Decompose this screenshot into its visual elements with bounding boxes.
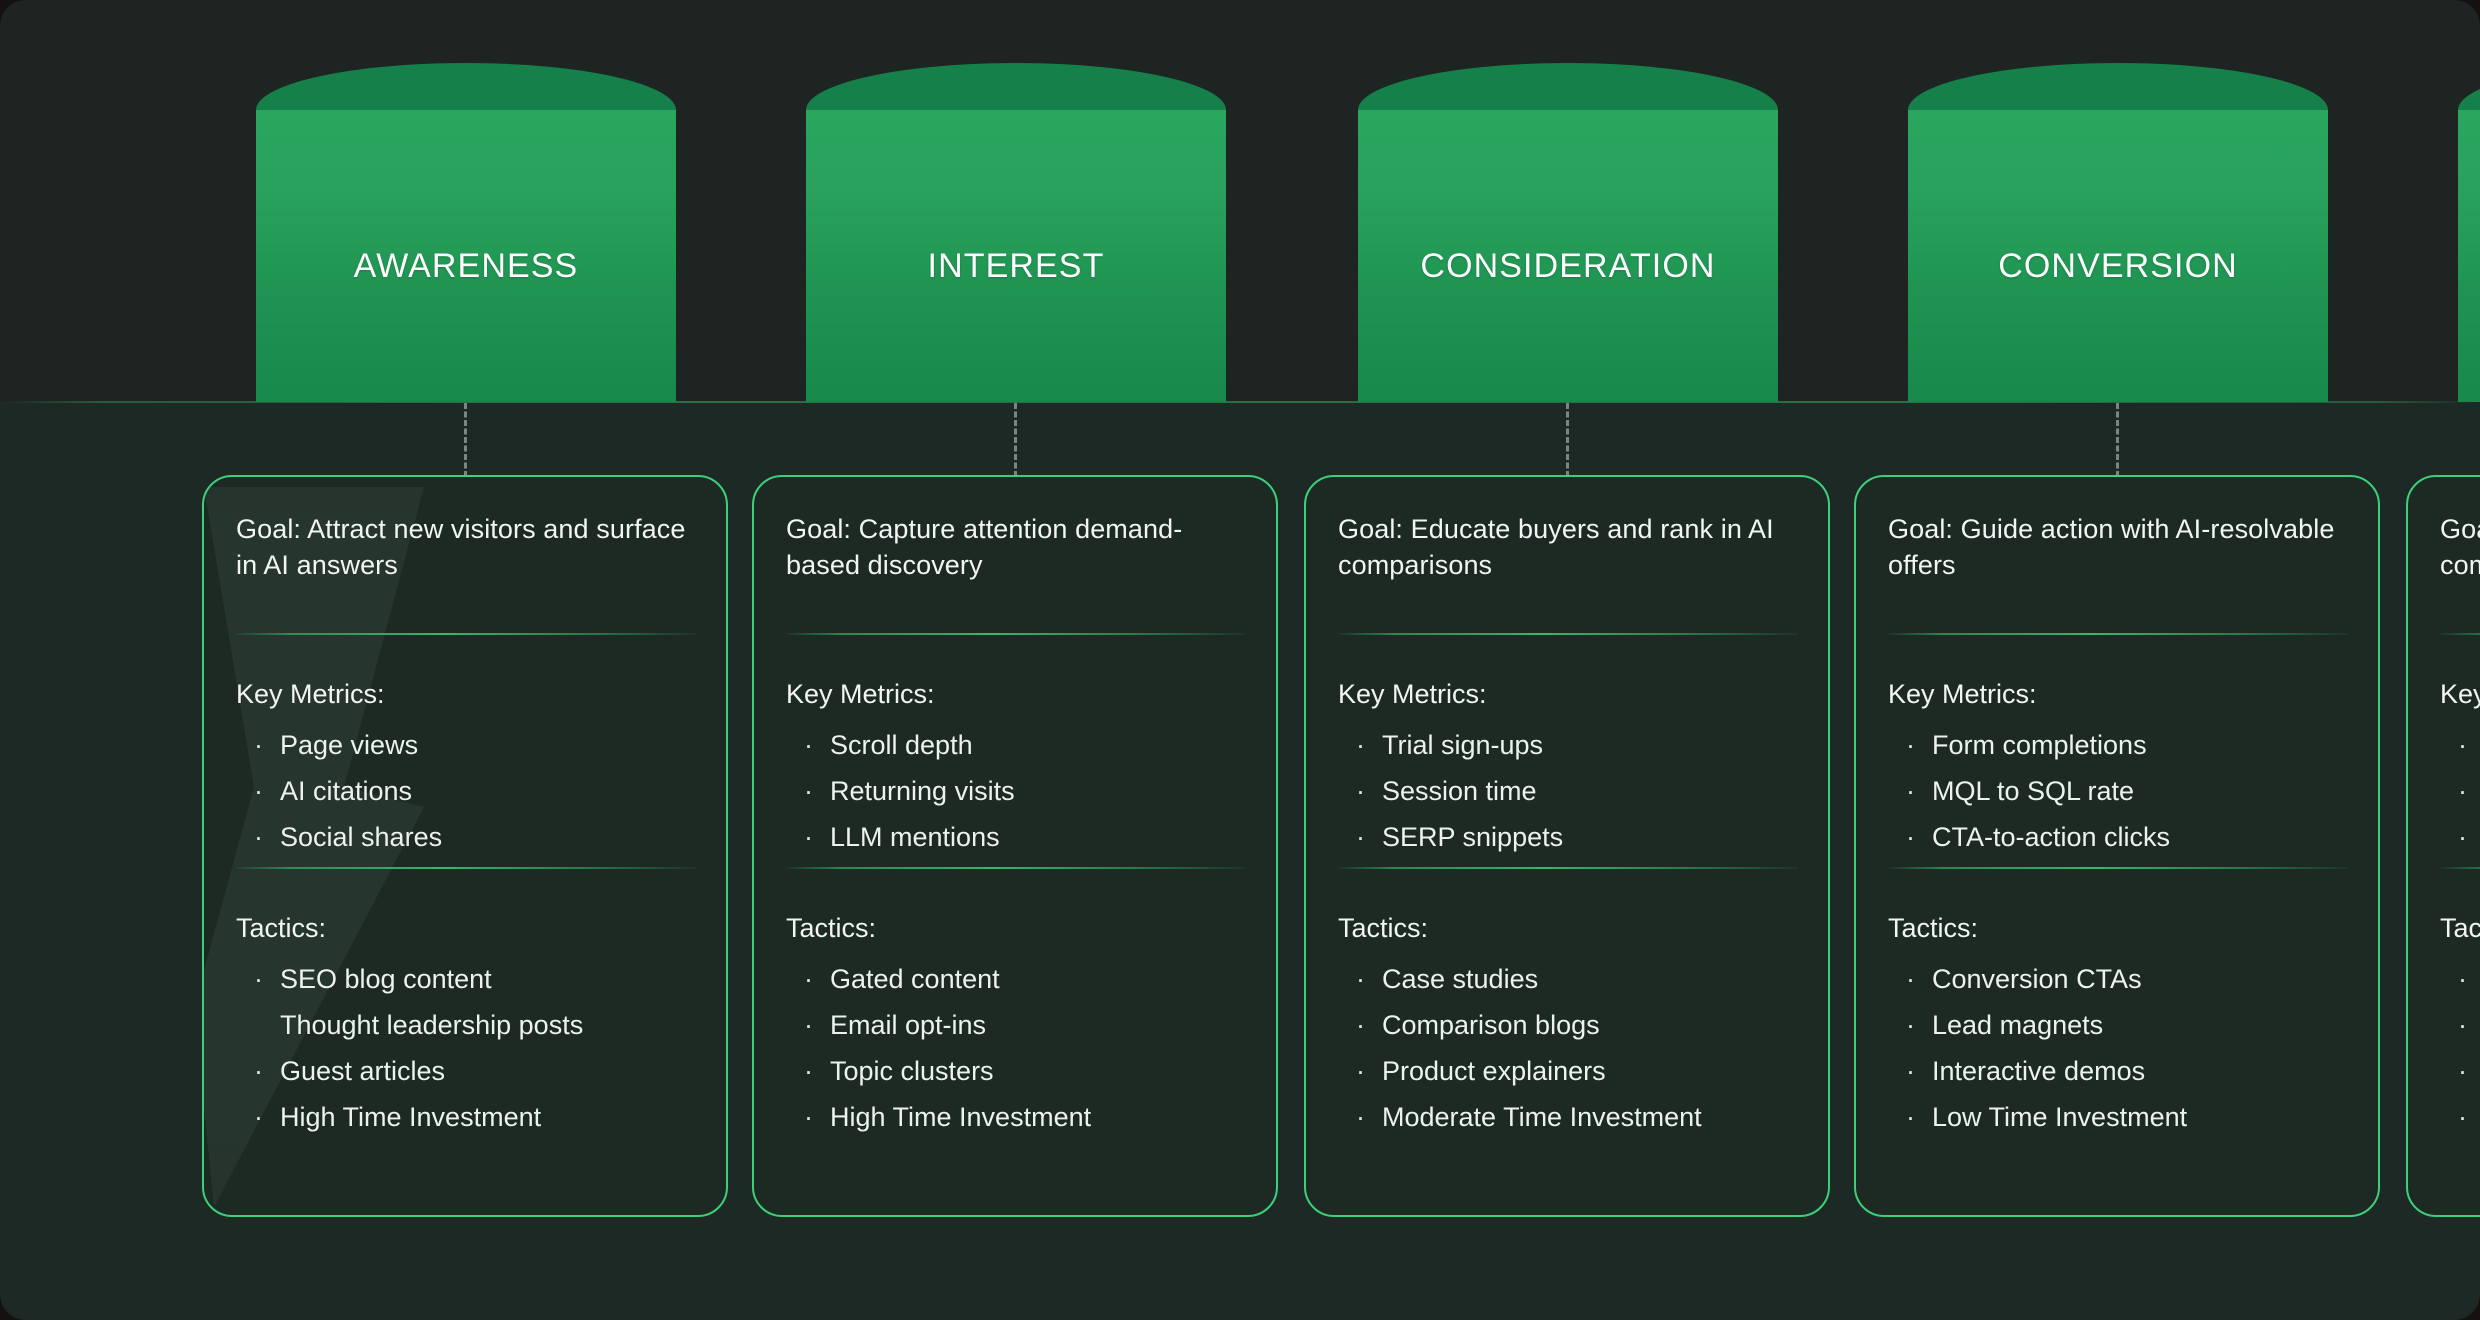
list-item-label: AI citations [280,776,412,806]
key-metrics-list: ·Content reuse ·Subscriber growth ·Knowl… [2440,725,2480,857]
list-item: ·SEO blog content [236,959,696,999]
goal-text: Goal: Guide action with AI-resolvable of… [1888,511,2348,607]
list-item: ·Interactive demos [1888,1051,2348,1091]
list-item-label: Thought leadership posts [280,1010,583,1040]
list-item-label: Gated content [830,964,1000,994]
bullet-dot-icon: · [1356,725,1365,765]
list-item: ·Upsell blogs [2440,1005,2480,1045]
list-item: ·Gated content [786,959,1246,999]
list-item: ·Knowledge depth [2440,817,2480,857]
list-item-label: Low Time Investment [1932,1102,2187,1132]
bullet-dot-icon: · [2458,959,2467,999]
list-item-label: Conversion CTAs [1932,964,2142,994]
list-item: ·Subscriber growth [2440,771,2480,811]
bullet-dot-icon: · [2458,771,2467,811]
key-metrics-list: ·Scroll depth ·Returning visits ·LLM men… [786,725,1246,857]
goal-text: Goal: Keep customers engaged & coming ba… [2440,511,2480,607]
goal-text: Goal: Educate buyers and rank in AI comp… [1338,511,1798,607]
list-item: ·High Time Investment [786,1097,1246,1137]
list-item: ·Form completions [1888,725,2348,765]
bullet-dot-icon: · [1906,959,1915,999]
bullet-dot-icon: · [804,1051,813,1091]
bullet-dot-icon: · [804,959,813,999]
stage-cylinder-consideration[interactable]: CONSIDERATION [1358,110,1778,402]
list-item: ·MQL to SQL rate [1888,771,2348,811]
bullet-dot-icon: · [254,959,263,999]
bullet-dot-icon: · [804,1097,813,1137]
bullet-dot-icon: · [1906,1005,1915,1045]
list-item: ·CTA-to-action clicks [1888,817,2348,857]
card-divider-top [786,633,1246,635]
card-divider-bottom [236,867,696,869]
stage-label-consideration: CONSIDERATION [1358,110,1778,402]
stage-label-conversion: CONVERSION [1908,110,2328,402]
tactics-title: Tactics: [1888,911,2348,945]
key-metrics-title: Key Metrics: [236,677,696,711]
stage-cylinder-interest[interactable]: INTEREST [806,110,1226,402]
list-item: ·SERP snippets [1338,817,1798,857]
list-item: ·Help articles [2440,959,2480,999]
bullet-dot-icon: · [254,771,263,811]
key-metrics-title: Key Metrics: [2440,677,2480,711]
list-item: ·LLM mentions [786,817,1246,857]
list-item: ·Thought leadership posts [236,1005,696,1045]
bullet-dot-icon: · [2458,1051,2467,1091]
list-item: ·High Time Investment [236,1097,696,1137]
card-divider-bottom [786,867,1246,869]
stage-label-interest: INTEREST [806,110,1226,402]
list-item: ·Case studies [1338,959,1798,999]
list-item-label: Social shares [280,822,442,852]
list-item-label: SEO blog content [280,964,492,994]
list-item: ·Social shares [236,817,696,857]
stage-card-retention[interactable]: Goal: Keep customers engaged & coming ba… [2406,475,2480,1217]
tactics-list: ·Case studies ·Comparison blogs ·Product… [1338,959,1798,1137]
list-item: ·Page views [236,725,696,765]
list-item-label: Moderate Time Investment [1382,1102,1702,1132]
list-item-label: Scroll depth [830,730,973,760]
stage-label-awareness: AWARENESS [256,110,676,402]
list-item: ·Lead magnets [1888,1005,2348,1045]
stage-card-awareness[interactable]: Goal: Attract new visitors and surface i… [202,475,728,1217]
list-item-label: LLM mentions [830,822,1000,852]
list-item: ·Low Time Investment [1888,1097,2348,1137]
bullet-dot-icon: · [1906,1051,1915,1091]
bullet-dot-icon: · [2458,1005,2467,1045]
tactics-list: ·Gated content ·Email opt-ins ·Topic clu… [786,959,1246,1137]
list-item-label: Topic clusters [830,1056,994,1086]
bullet-dot-icon: · [254,1097,263,1137]
stage-card-consideration[interactable]: Goal: Educate buyers and rank in AI comp… [1304,475,1830,1217]
bullet-dot-icon: · [2458,817,2467,857]
stage-cylinder-awareness[interactable]: AWARENESS [256,110,676,402]
list-item: ·Long-Term Investment [2440,1097,2480,1137]
list-item-label: Case studies [1382,964,1538,994]
list-item-label: SERP snippets [1382,822,1563,852]
list-item: ·Trial sign-ups [1338,725,1798,765]
bullet-dot-icon: · [1906,725,1915,765]
goal-text: Goal: Capture attention demand-based dis… [786,511,1246,607]
list-item: ·AI citations [236,771,696,811]
bullet-dot-icon: · [2458,1097,2467,1137]
bullet-dot-icon: · [804,771,813,811]
bullet-dot-icon: · [1356,771,1365,811]
key-metrics-title: Key Metrics: [786,677,1246,711]
list-item: ·Product explainers [1338,1051,1798,1091]
bullet-dot-icon: · [254,1051,263,1091]
stage-cylinder-retention[interactable]: RETENTION [2458,110,2480,402]
list-item-label: Email opt-ins [830,1010,986,1040]
bullet-dot-icon: · [1356,1051,1365,1091]
list-item: ·Session time [1338,771,1798,811]
bullet-dot-icon: · [1906,771,1915,811]
card-divider-top [1338,633,1798,635]
card-divider-top [2440,633,2480,635]
card-divider-bottom [1888,867,2348,869]
list-item: ·Returning visits [786,771,1246,811]
bullet-dot-icon: · [804,817,813,857]
list-item-label: Lead magnets [1932,1010,2103,1040]
tactics-title: Tactics: [1338,911,1798,945]
bullet-dot-icon: · [254,817,263,857]
tactics-title: Tactics: [236,911,696,945]
list-item-label: Guest articles [280,1056,445,1086]
list-item: ·Topic clusters [786,1051,1246,1091]
bullet-dot-icon: · [254,725,263,765]
stage-card-conversion[interactable]: Goal: Guide action with AI-resolvable of… [1854,475,2380,1217]
tactics-list: ·Help articles ·Upsell blogs ·Email work… [2440,959,2480,1137]
list-item-label: High Time Investment [830,1102,1091,1132]
bullet-dot-icon: · [1906,817,1915,857]
key-metrics-title: Key Metrics: [1338,677,1798,711]
key-metrics-list: ·Page views ·AI citations ·Social shares [236,725,696,857]
list-item-label: Returning visits [830,776,1015,806]
stage-label-retention: RETENTION [2458,110,2480,402]
list-item: ·Guest articles [236,1051,696,1091]
card-divider-top [1888,633,2348,635]
tactics-list: ·SEO blog content ·Thought leadership po… [236,959,696,1137]
list-item-label: Interactive demos [1932,1056,2145,1086]
tactics-list: ·Conversion CTAs ·Lead magnets ·Interact… [1888,959,2348,1137]
list-item-label: Session time [1382,776,1537,806]
card-divider-top [236,633,696,635]
stage-card-interest[interactable]: Goal: Capture attention demand-based dis… [752,475,1278,1217]
bullet-dot-icon: · [2458,725,2467,765]
list-item-label: Comparison blogs [1382,1010,1600,1040]
tactics-title: Tactics: [2440,911,2480,945]
bullet-dot-icon: · [1356,817,1365,857]
bullet-dot-icon: · [1356,1097,1365,1137]
list-item-label: Trial sign-ups [1382,730,1543,760]
key-metrics-title: Key Metrics: [1888,677,2348,711]
bullet-dot-icon: · [804,725,813,765]
list-item: ·Content reuse [2440,725,2480,765]
list-item: ·Conversion CTAs [1888,959,2348,999]
list-item-label: Form completions [1932,730,2147,760]
card-divider-bottom [2440,867,2480,869]
key-metrics-list: ·Trial sign-ups ·Session time ·SERP snip… [1338,725,1798,857]
key-metrics-list: ·Form completions ·MQL to SQL rate ·CTA-… [1888,725,2348,857]
bullet-dot-icon: · [1906,1097,1915,1137]
list-item: ·Moderate Time Investment [1338,1097,1798,1137]
list-item: ·Email workflows [2440,1051,2480,1091]
list-item-label: High Time Investment [280,1102,541,1132]
list-item-label: CTA-to-action clicks [1932,822,2170,852]
tactics-title: Tactics: [786,911,1246,945]
list-item-label: Product explainers [1382,1056,1606,1086]
list-item: ·Email opt-ins [786,1005,1246,1045]
funnel-diagram-canvas: AWARENESS INTEREST CONSIDERATION CONVERS… [0,0,2480,1320]
bullet-dot-icon: · [1356,959,1365,999]
list-item-label: Page views [280,730,418,760]
list-item: ·Scroll depth [786,725,1246,765]
list-item-label: MQL to SQL rate [1932,776,2134,806]
card-divider-bottom [1338,867,1798,869]
goal-text: Goal: Attract new visitors and surface i… [236,511,696,607]
bullet-dot-icon: · [804,1005,813,1045]
list-item: ·Comparison blogs [1338,1005,1798,1045]
bullet-dot-icon: · [1356,1005,1365,1045]
stage-cylinder-conversion[interactable]: CONVERSION [1908,110,2328,402]
